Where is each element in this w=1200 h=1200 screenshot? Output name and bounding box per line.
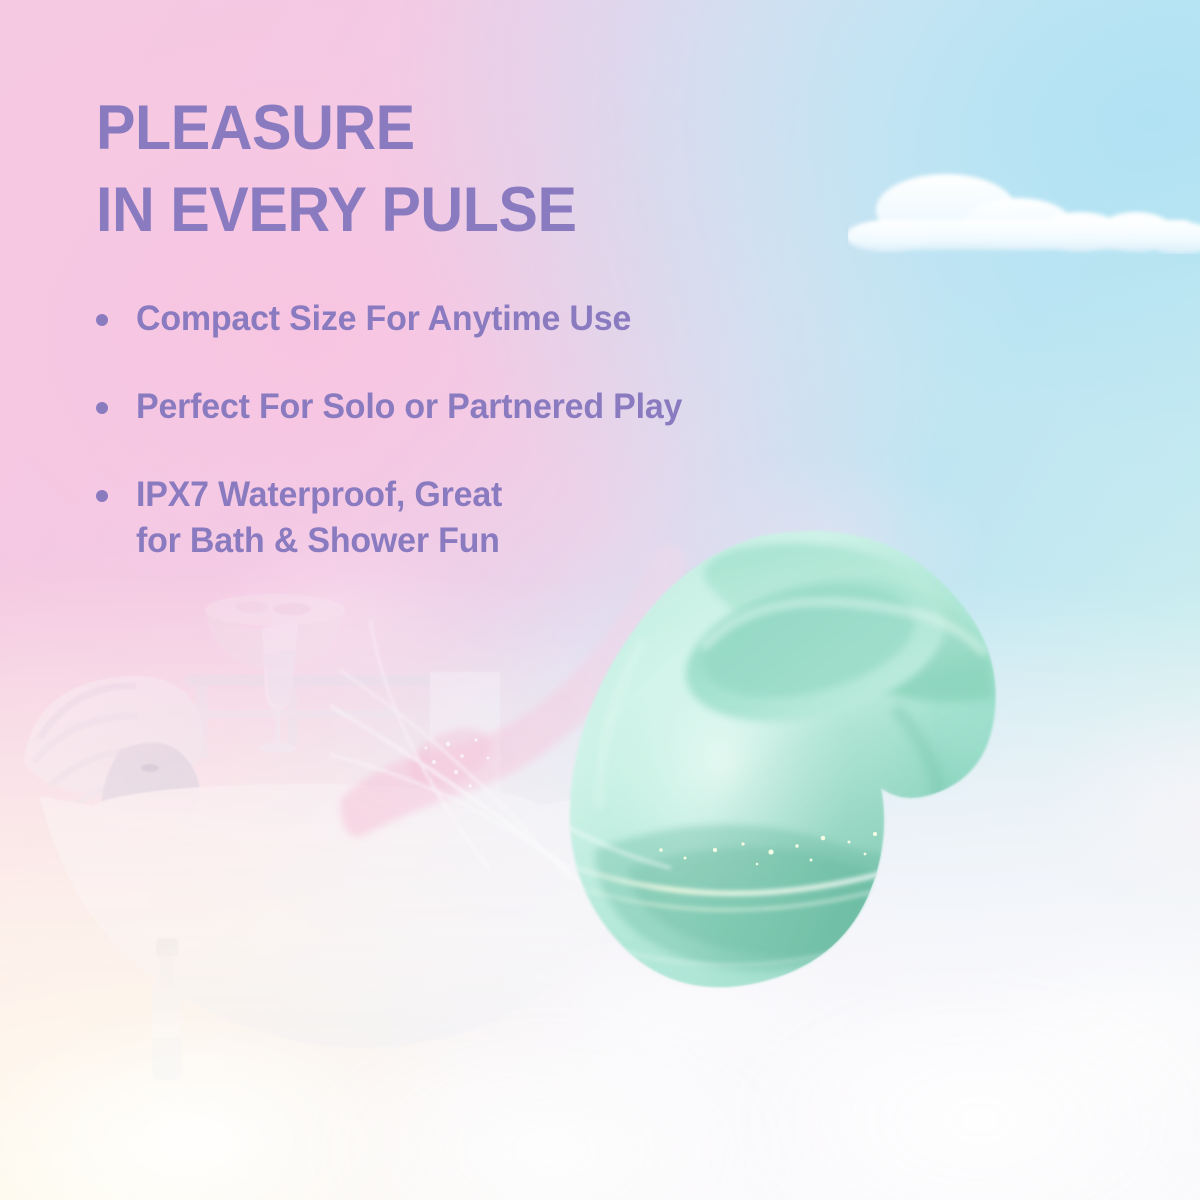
bullet-dot-icon (96, 402, 108, 414)
soft-cloud-icon (848, 158, 1200, 254)
product-feature-banner: PLEASURE IN EVERY PULSE Compact Size For… (0, 0, 1200, 1200)
cloud-bank-bottom-mid (200, 950, 900, 1200)
feature-text: IPX7 Waterproof, Great for Bath & Shower… (136, 472, 502, 564)
list-item: IPX7 Waterproof, Great for Bath & Shower… (96, 472, 886, 564)
cloud-bank-bottom-left (0, 960, 500, 1200)
bullet-dot-icon (96, 490, 108, 502)
cloud-bank-bottom-right (620, 910, 1200, 1200)
feature-text: Compact Size For Anytime Use (136, 296, 631, 342)
cloud-puff-lower-right (900, 890, 1200, 1190)
list-item: Perfect For Solo or Partnered Play (96, 384, 886, 430)
feature-list: Compact Size For Anytime Use Perfect For… (96, 296, 886, 565)
copy-block: PLEASURE IN EVERY PULSE Compact Size For… (96, 88, 886, 565)
feature-text: Perfect For Solo or Partnered Play (136, 384, 682, 430)
page-title: PLEASURE IN EVERY PULSE (96, 88, 839, 252)
product-image-mint-massager (565, 520, 1035, 1100)
bullet-dot-icon (96, 314, 108, 326)
cloud-puff-right (980, 650, 1200, 950)
list-item: Compact Size For Anytime Use (96, 296, 886, 342)
cloud-puff-center (420, 880, 940, 1140)
bathtub-scene-illustration (0, 560, 700, 1080)
